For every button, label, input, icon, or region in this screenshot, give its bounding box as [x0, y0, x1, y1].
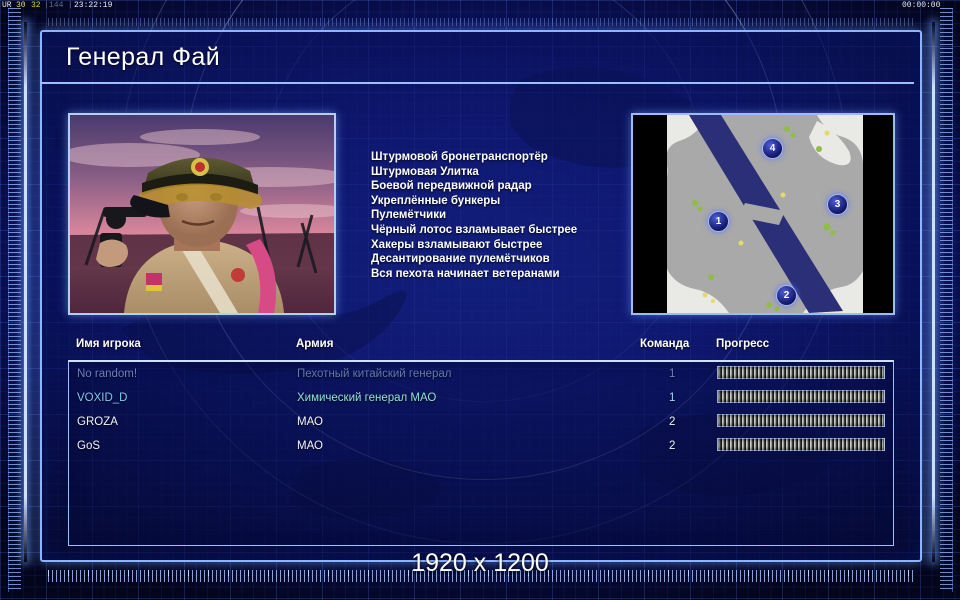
player-progress-bar [717, 438, 885, 451]
player-name: GoS [77, 434, 100, 458]
status-bar: UR 30 32 | 144 | 23:22:19 00:00:00 [0, 0, 960, 11]
column-header-progress: Прогресс [716, 338, 769, 350]
ability-item: Пулемётчики [371, 208, 651, 223]
table-row[interactable]: GROZA МАО 2 [69, 410, 893, 434]
general-portrait-image [70, 115, 334, 313]
status-timestamp: 23:22:19 [74, 0, 112, 11]
ability-item: Штурмовая Улитка [371, 165, 651, 180]
page-title: Генерал Фай [66, 43, 220, 72]
screen-edge-glow-right [932, 22, 935, 562]
table-header: Имя игрока Армия Команда Прогресс [68, 338, 894, 360]
column-header-army: Армия [296, 338, 333, 350]
minimap-frame[interactable]: 1 2 3 4 [631, 113, 895, 315]
game-lobby-screen: UR 30 32 | 144 | 23:22:19 00:00:00 Генер… [0, 0, 960, 600]
ability-item: Хакеры взламывают быстрее [371, 238, 651, 253]
player-team: 2 [669, 434, 675, 458]
player-name: GROZA [77, 410, 118, 434]
start-position-marker[interactable]: 4 [762, 138, 783, 159]
player-army: Пехотный китайский генерал [297, 362, 452, 386]
player-team: 1 [669, 362, 675, 386]
player-progress-bar [717, 366, 885, 379]
general-portrait-frame [68, 113, 336, 315]
status-frames: 144 [49, 0, 63, 11]
start-position-marker[interactable]: 3 [827, 194, 848, 215]
column-header-name: Имя игрока [76, 338, 141, 350]
ability-item: Вся пехота начинает ветеранами [371, 267, 651, 282]
player-name: VOXID_D [77, 386, 128, 410]
status-clock: 00:00:00 [902, 0, 940, 11]
start-position-marker[interactable]: 2 [776, 285, 797, 306]
ruler-right [940, 8, 953, 592]
general-abilities-list: Штурмовой бронетранспортёр Штурмовая Ули… [371, 150, 651, 281]
player-progress-bar [717, 390, 885, 403]
status-tag: UR [2, 0, 12, 11]
screen-edge-glow-left [24, 22, 27, 562]
ruler-top [48, 18, 914, 26]
player-progress-bar [717, 414, 885, 427]
status-value-1: 30 [16, 0, 26, 11]
player-army: Химический генерал МАО [297, 386, 436, 410]
ability-item: Чёрный лотос взламывает быстрее [371, 223, 651, 238]
ability-item: Укреплённые бункеры [371, 194, 651, 209]
player-army: МАО [297, 434, 323, 458]
table-row[interactable]: GoS МАО 2 [69, 434, 893, 458]
ruler-left [8, 8, 21, 592]
player-team: 1 [669, 386, 675, 410]
status-sep-2: | [68, 0, 73, 11]
start-position-marker[interactable]: 1 [708, 211, 729, 232]
column-header-team: Команда [640, 338, 689, 350]
ability-item: Десантирование пулемётчиков [371, 252, 651, 267]
table-row[interactable]: VOXID_D Химический генерал МАО 1 [69, 386, 893, 410]
player-table: Имя игрока Армия Команда Прогресс No ran… [68, 338, 894, 546]
player-team: 2 [669, 410, 675, 434]
status-value-2: 32 [31, 0, 41, 11]
table-body: No random! Пехотный китайский генерал 1 … [68, 360, 894, 546]
player-army: МАО [297, 410, 323, 434]
table-row[interactable]: No random! Пехотный китайский генерал 1 [69, 362, 893, 386]
ability-item: Боевой передвижной радар [371, 179, 651, 194]
ability-item: Штурмовой бронетранспортёр [371, 150, 651, 165]
player-name: No random! [77, 362, 137, 386]
title-bar: Генерал Фай [40, 32, 914, 84]
resolution-label: 1920 x 1200 [0, 549, 960, 578]
